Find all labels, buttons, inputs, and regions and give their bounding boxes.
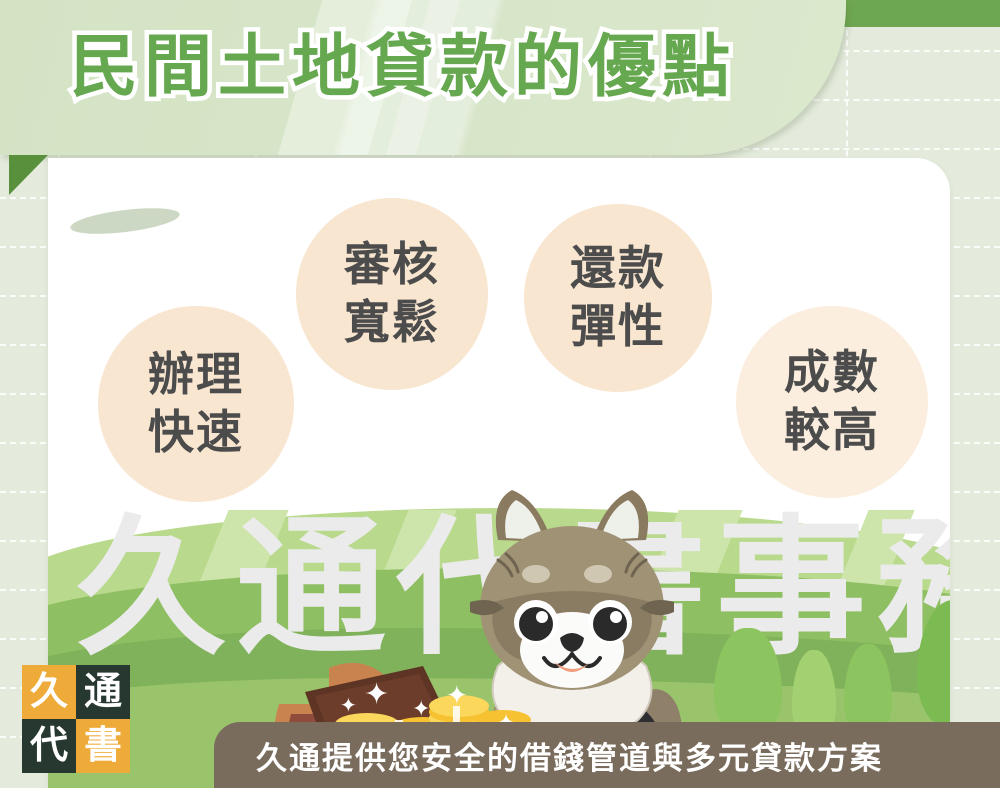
benefit-line-2: 快速: [148, 409, 244, 457]
benefit-bubble-higher-ratio: 成數 較高: [736, 306, 928, 498]
sparkle-icon: ✦: [364, 680, 389, 710]
footer-tagline-text: 久通提供您安全的借錢管道與多元貸款方案: [256, 733, 883, 778]
benefit-line-1: 辦理: [148, 351, 244, 399]
logo-cell-2: 通: [76, 665, 130, 719]
footer-tagline-bar: 久通提供您安全的借錢管道與多元貸款方案: [214, 722, 1000, 788]
logo-cell-3: 代: [22, 719, 76, 773]
benefit-line-2: 較高: [784, 407, 880, 455]
benefit-bubble-flexible-repayment: 還款 彈性: [524, 204, 712, 392]
benefit-line-2: 寬鬆: [344, 299, 440, 347]
benefit-line-1: 審核: [344, 241, 440, 289]
infographic-canvas: 民間土地貸款的優點 久通代書事務所: [0, 0, 1000, 788]
benefit-line-1: 還款: [570, 245, 666, 293]
logo-cell-4: 書: [76, 719, 130, 773]
sparkle-icon: ✦: [446, 682, 468, 708]
ribbon-fold-triangle: [9, 155, 48, 195]
benefit-line-1: 成數: [784, 349, 880, 397]
page-title: 民間土地貸款的優點: [70, 33, 736, 101]
benefit-bubble-lenient-review: 審核 寬鬆: [296, 198, 488, 390]
sparkle-icon: ✦: [340, 696, 357, 716]
logo-cell-1: 久: [22, 665, 76, 719]
brand-logo[interactable]: 久 通 代 書: [22, 665, 130, 773]
benefit-bubble-fast-processing: 辦理 快速: [98, 306, 294, 502]
benefit-line-2: 彈性: [570, 303, 666, 351]
sparkle-icon: ✦: [412, 698, 430, 720]
